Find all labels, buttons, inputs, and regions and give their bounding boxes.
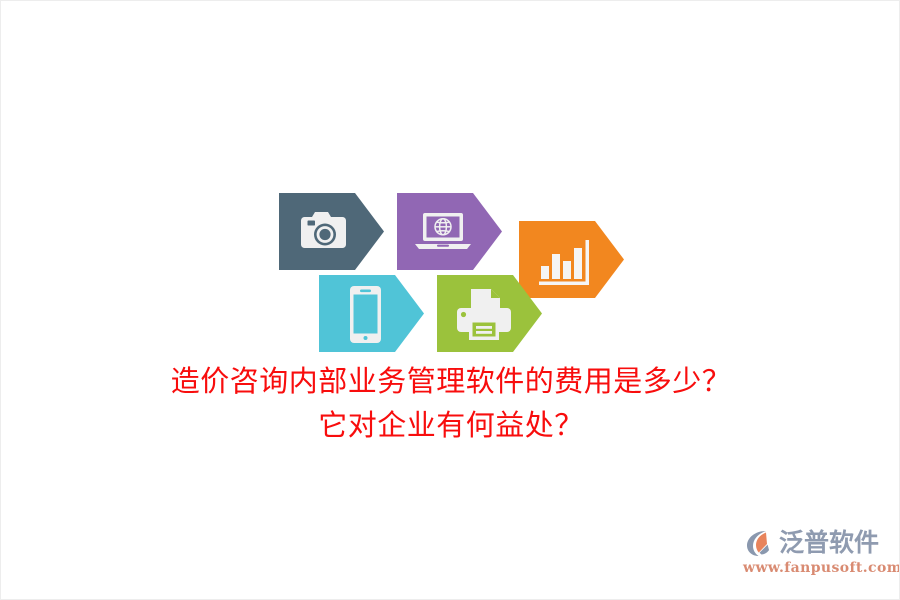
chevron-printer — [437, 275, 542, 352]
camera-aperture-icon — [319, 229, 330, 240]
smartphone-icon — [350, 286, 381, 343]
headline-line-1: 造价咨询内部业务管理软件的费用是多少？ — [1, 359, 900, 403]
watermark-brand-name: 泛普软件 — [779, 526, 879, 560]
fanpu-swoosh-logo-icon — [743, 526, 777, 560]
watermark-brand-row: 泛普软件 — [743, 525, 885, 561]
headline-text: 造价咨询内部业务管理软件的费用是多少？ 它对企业有何益处？ — [1, 359, 900, 447]
watermark: 泛普软件 www.fanpusoft.com — [743, 525, 885, 581]
camera-viewfinder-icon — [308, 221, 316, 226]
chevron-laptop — [397, 193, 502, 270]
chevron-phone — [319, 275, 424, 352]
chevron-icon-cluster — [279, 193, 629, 343]
chevron-camera — [279, 193, 384, 270]
headline-line-2: 它对企业有何益处？ — [1, 403, 900, 447]
watermark-url: www.fanpusoft.com — [743, 560, 885, 576]
screenshot-canvas: 造价咨询内部业务管理软件的费用是多少？ 它对企业有何益处？ 泛普软件 www.f… — [0, 0, 900, 600]
